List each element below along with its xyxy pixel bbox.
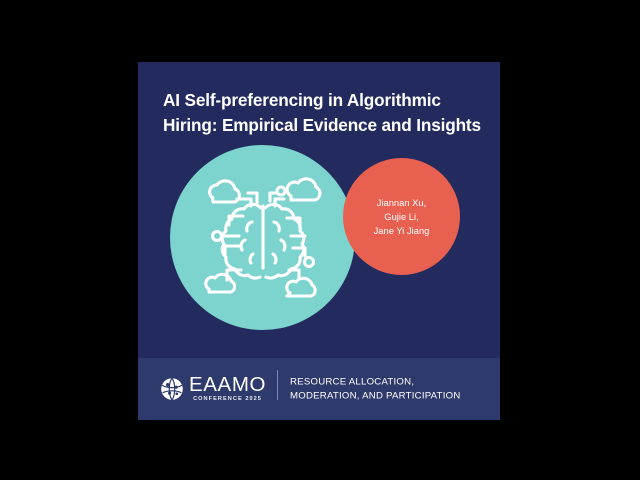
poster-stage: AI Self-preferencing in Algorithmic Hiri… [0, 0, 640, 480]
poster-footer: EAAMO CONFERENCE 2025 RESOURCE ALLOCATIO… [138, 358, 500, 420]
eaamo-wordmark: EAAMO CONFERENCE 2025 [189, 375, 266, 403]
eaamo-globe-logo-icon [160, 377, 184, 401]
tagline-line-1: RESOURCE ALLOCATION, [290, 376, 461, 390]
title-line-1: AI Self-preferencing in Algorithmic [163, 88, 473, 113]
eaamo-wordmark-text: EAAMO [189, 375, 266, 395]
author-line-1: Jiannan Xu, [377, 196, 427, 210]
conference-tagline: RESOURCE ALLOCATION, MODERATION, AND PAR… [290, 376, 461, 403]
author-line-2: Gujie Li, [384, 210, 418, 224]
title-line-2: Hiring: Empirical Evidence and Insights [163, 113, 473, 138]
authors-circle: Jiannan Xu, Gujie Li, Jane Yi Jiang [343, 158, 460, 275]
conference-poster-card: AI Self-preferencing in Algorithmic Hiri… [138, 62, 500, 420]
eaamo-brand-lockup: EAAMO CONFERENCE 2025 [160, 375, 266, 403]
ai-brain-network-icon [195, 170, 331, 306]
tagline-line-2: MODERATION, AND PARTICIPATION [290, 389, 461, 403]
author-line-3: Jane Yi Jiang [374, 224, 430, 238]
illustration-circle [170, 145, 355, 330]
conference-year-text: CONFERENCE 2025 [189, 395, 266, 403]
footer-divider [277, 370, 278, 400]
poster-title: AI Self-preferencing in Algorithmic Hiri… [163, 88, 473, 138]
